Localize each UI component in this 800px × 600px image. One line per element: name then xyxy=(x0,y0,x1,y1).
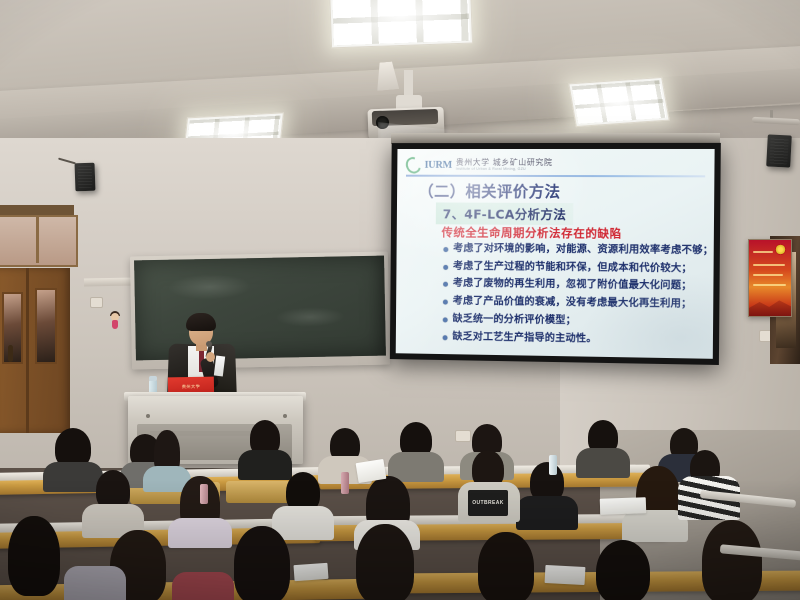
iurm-logo-english: Institute of Urban & Rural Mining, GZU xyxy=(456,168,553,172)
slide-subtitle: 7、4F-LCA分析方法 xyxy=(436,202,573,225)
red-folder-text: 贵州大学 xyxy=(168,384,214,391)
student-torso xyxy=(168,518,232,548)
wall-outlet[interactable] xyxy=(455,430,471,442)
presenter-hair xyxy=(186,313,216,331)
student-long-hair xyxy=(8,516,60,596)
podium-knob[interactable] xyxy=(146,414,150,418)
iurm-swoosh-icon xyxy=(403,154,424,176)
poster-text-line xyxy=(753,264,785,266)
ceiling-light-panel xyxy=(568,77,669,127)
student-torso xyxy=(516,496,578,530)
paper-sheet xyxy=(600,497,647,515)
projection-screen: IURM 贵州大学 城乡矿山研究院 Institute of Urban & R… xyxy=(396,149,715,359)
student-torso xyxy=(43,462,103,492)
wall-speaker xyxy=(766,134,792,167)
desk-bottle xyxy=(341,472,349,494)
desk-bottle xyxy=(549,455,557,475)
list-item: 考虑了产品价值的衰减，没有考虑最大化再生利用； xyxy=(443,296,703,311)
list-item: 考虑了生产过程的节能和环保，但成本和代价较大； xyxy=(443,261,703,275)
projector-lens xyxy=(376,116,389,129)
student-torso xyxy=(238,450,292,480)
slide-header-rule xyxy=(406,175,705,178)
list-item: 缺乏对工艺生产指导的主动性。 xyxy=(443,331,703,346)
bullet-dot-icon xyxy=(443,335,448,340)
red-wall-poster xyxy=(748,239,792,317)
door-center-seam xyxy=(26,268,29,433)
bullet-dot-icon xyxy=(443,317,448,322)
transom-window xyxy=(0,215,78,267)
party-emblem-icon xyxy=(775,244,786,255)
desk-bottle xyxy=(200,484,208,504)
bullet-text: 考虑了产品价值的衰减，没有考虑最大化再生利用； xyxy=(453,296,692,310)
student-torso xyxy=(576,448,630,478)
bullet-text: 缺乏对工艺生产指导的主动性。 xyxy=(452,331,596,345)
bullet-text: 考虑了废物的再生利用，忽视了附价值最大化问题； xyxy=(453,278,692,292)
bullet-dot-icon xyxy=(443,300,448,305)
bullet-dot-icon xyxy=(443,282,448,287)
poster-text-line xyxy=(753,284,786,286)
presenter-hand xyxy=(206,352,215,362)
poster-text-line xyxy=(753,251,773,253)
microphone-head-icon xyxy=(206,341,212,347)
chalk-ledge xyxy=(84,278,136,287)
student-long-hair xyxy=(356,524,414,600)
podium-knob[interactable] xyxy=(283,414,287,418)
wall-outlet[interactable] xyxy=(90,297,103,308)
student-long-hair xyxy=(702,520,762,600)
student-torso-graphic-tee: OUTBREAK xyxy=(458,482,520,522)
door-glass-panel xyxy=(35,288,57,364)
figurine-body xyxy=(112,320,118,329)
student-torso xyxy=(172,572,234,600)
paper-sheet xyxy=(545,565,586,585)
water-bottle-cap xyxy=(149,376,157,381)
poster-mountain-graphic xyxy=(749,296,791,316)
ceiling-light-panel xyxy=(329,0,473,48)
slide-logo: IURM 贵州大学 城乡矿山研究院 Institute of Urban & R… xyxy=(406,155,705,175)
projection-screen-frame: IURM 贵州大学 城乡矿山研究院 Institute of Urban & R… xyxy=(390,143,721,365)
slide-bullet-list: 考虑了对环境的影响，对能源、资源利用效率考虑不够； 考虑了生产过程的节能和环保，… xyxy=(443,243,704,353)
door-handle[interactable] xyxy=(8,345,13,362)
slide-title: （二）相关评价方法 xyxy=(418,180,560,202)
lecture-hall-photo: IURM 贵州大学 城乡矿山研究院 Institute of Urban & R… xyxy=(0,0,800,600)
list-item: 考虑了对环境的影响，对能源、资源利用效率考虑不够； xyxy=(443,243,703,256)
bullet-dot-icon xyxy=(443,247,448,252)
list-item: 缺乏统一的分析评价模型； xyxy=(443,313,703,328)
bullet-dot-icon xyxy=(443,265,448,270)
iurm-logo-mark: IURM xyxy=(425,159,452,170)
slide-red-heading: 传统全生命周期分析法存在的缺陷 xyxy=(442,224,622,241)
iurm-logo-chinese: 贵州大学 城乡矿山研究院 xyxy=(456,159,553,167)
student-hair xyxy=(596,540,650,600)
bullet-text: 考虑了对环境的影响，对能源、资源利用效率考虑不够； xyxy=(453,243,713,256)
paper-sheet xyxy=(293,563,328,581)
student-torso xyxy=(64,566,126,600)
bullet-text: 考虑了生产过程的节能和环保，但成本和代价较大； xyxy=(453,261,692,275)
bullet-text: 缺乏统一的分析评价模型； xyxy=(453,313,577,326)
shirt-graphic-text: OUTBREAK xyxy=(472,500,504,506)
poster-text-line xyxy=(753,274,783,276)
list-item: 考虑了废物的再生利用，忽视了附价值最大化问题； xyxy=(443,278,703,292)
student-long-hair xyxy=(478,532,534,600)
student-long-hair xyxy=(234,526,290,600)
transom-mullion xyxy=(36,215,39,263)
wall-speaker xyxy=(75,163,96,192)
